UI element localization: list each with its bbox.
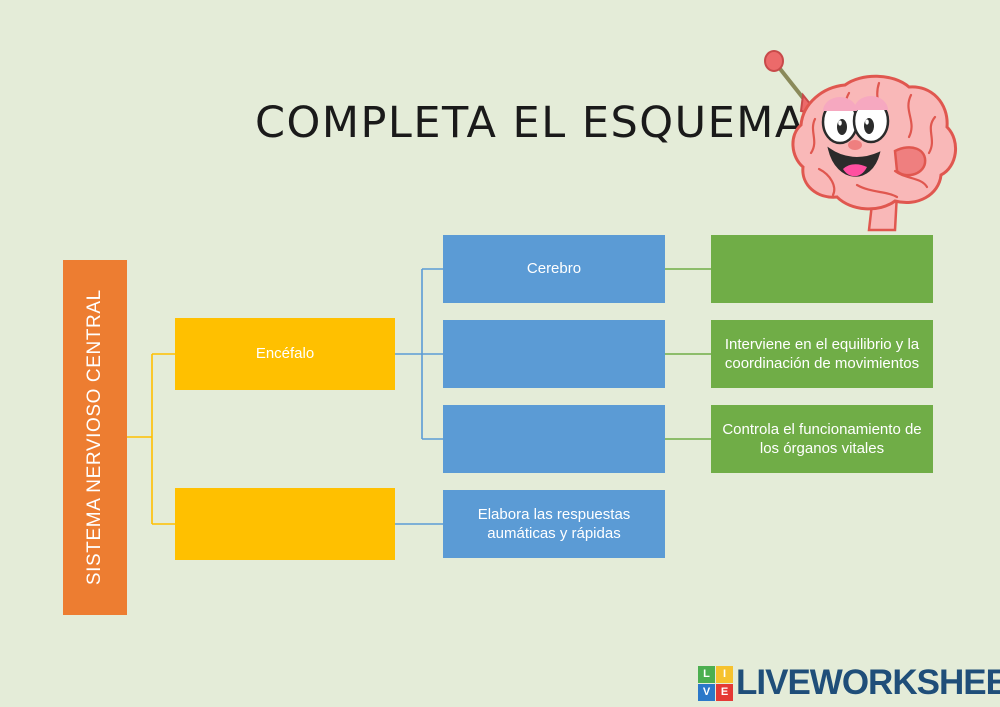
node-label: Controla el funcionamiento de los órgano… — [719, 420, 925, 458]
node-label: Encéfalo — [256, 344, 314, 363]
node-label: Cerebro — [527, 259, 581, 278]
page-title: COMPLETA EL ESQUEMA — [255, 98, 755, 148]
logo-tile-i: I — [716, 666, 733, 683]
logo-wordmark: LIVEWORKSHEETS — [736, 663, 1000, 703]
node-cerebro-funcion-blank[interactable] — [711, 235, 933, 303]
node-cerebro[interactable]: Cerebro — [443, 235, 665, 303]
logo-tile-v: V — [698, 684, 715, 701]
node-label: SISTEMA NERVIOSO CENTRAL — [83, 290, 107, 586]
liveworksheets-logo[interactable]: L I V E LIVEWORKSHEETS — [698, 663, 1000, 703]
node-cerebelo-blank[interactable] — [443, 320, 665, 388]
node-sistema-nervioso-central[interactable]: SISTEMA NERVIOSO CENTRAL — [63, 260, 127, 615]
logo-tile-l: L — [698, 666, 715, 683]
node-bulbo-funcion[interactable]: Controla el funcionamiento de los órgano… — [711, 405, 933, 473]
node-cerebelo-funcion[interactable]: Interviene en el equilibrio y la coordin… — [711, 320, 933, 388]
node-bulbo-blank[interactable] — [443, 405, 665, 473]
worksheet-canvas: COMPLETA EL ESQUEMA — [0, 0, 1000, 707]
node-medula-blank[interactable] — [175, 488, 395, 560]
node-encefalo[interactable]: Encéfalo — [175, 318, 395, 390]
logo-tiles: L I V E — [698, 666, 733, 701]
logo-tile-e: E — [716, 684, 733, 701]
cartoon-brain-icon — [745, 45, 995, 245]
node-label: Elabora las respuestas aumáticas y rápid… — [451, 505, 657, 543]
node-medula-funcion[interactable]: Elabora las respuestas aumáticas y rápid… — [443, 490, 665, 558]
node-label: Interviene en el equilibrio y la coordin… — [719, 335, 925, 373]
